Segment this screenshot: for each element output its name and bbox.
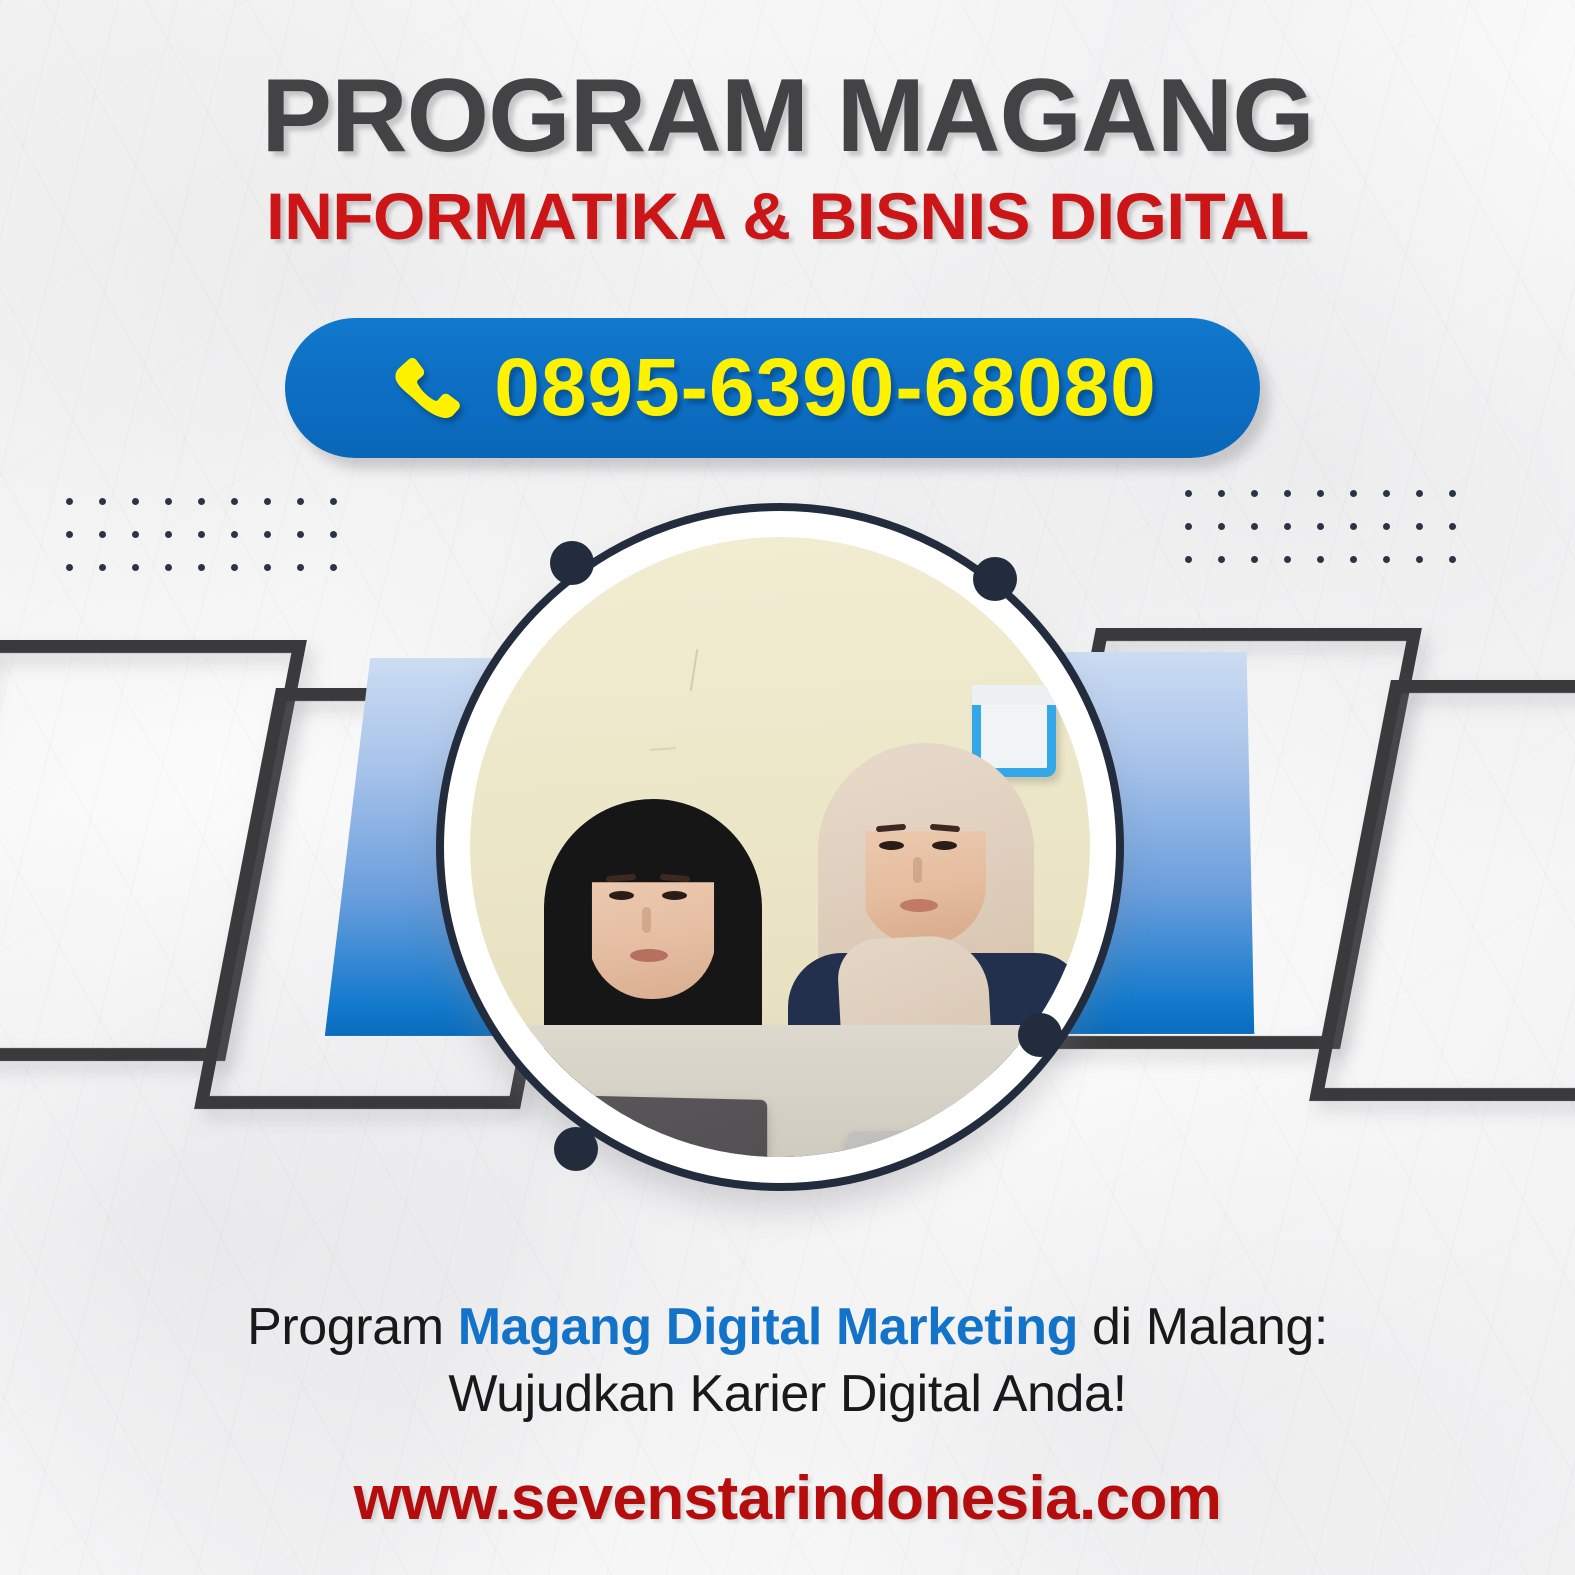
person-left-eye [609,891,634,900]
ring-accent-dot [550,541,594,585]
headline-block: PROGRAM MAGANG INFORMATIKA & BISNIS DIGI… [0,62,1575,252]
tagline-line-1: Program Magang Digital Marketing di Mala… [0,1294,1575,1361]
phone-number-text: 0895-6390-68080 [494,341,1156,435]
tagline-highlight: Magang Digital Marketing [458,1298,1078,1356]
ring-accent-dot [1018,1013,1062,1057]
laptop-left [506,1094,767,1157]
laptop-right [847,1126,1090,1157]
decor-dot-grid-left [66,498,337,571]
person-left-lips [630,949,668,962]
tagline-block: Program Magang Digital Marketing di Mala… [0,1294,1575,1427]
page-title: PROGRAM MAGANG [0,62,1575,170]
photo-scene: AP.VIII.X.XI [470,537,1090,1157]
website-url[interactable]: www.sevenstarindonesia.com [0,1463,1575,1534]
tagline-suffix: di Malang: [1078,1298,1328,1356]
person-left-nose [642,907,651,933]
phone-icon [388,352,464,428]
person-right-eye [879,841,904,850]
person-left-eye [662,891,687,900]
poster-canvas: PROGRAM MAGANG INFORMATIKA & BISNIS DIGI… [0,0,1575,1575]
wall-crack [690,649,699,691]
hero-photo: AP.VIII.X.XI [470,537,1090,1157]
hero-photo-block: AP.VIII.X.XI [418,495,1148,1263]
ring-accent-dot [973,557,1017,601]
person-right-nose [913,857,922,883]
phone-cta-badge[interactable]: 0895-6390-68080 [285,318,1260,458]
person-right-lips [900,899,938,912]
decor-dot-grid-right [1185,490,1456,563]
wall-crack [650,747,676,751]
tagline-prefix: Program [247,1298,458,1356]
tagline-line-2: Wujudkan Karier Digital Anda! [0,1361,1575,1428]
ring-accent-dot [554,1127,598,1171]
person-right-eye [932,841,957,850]
page-subtitle: INFORMATIKA & BISNIS DIGITAL [0,182,1575,252]
